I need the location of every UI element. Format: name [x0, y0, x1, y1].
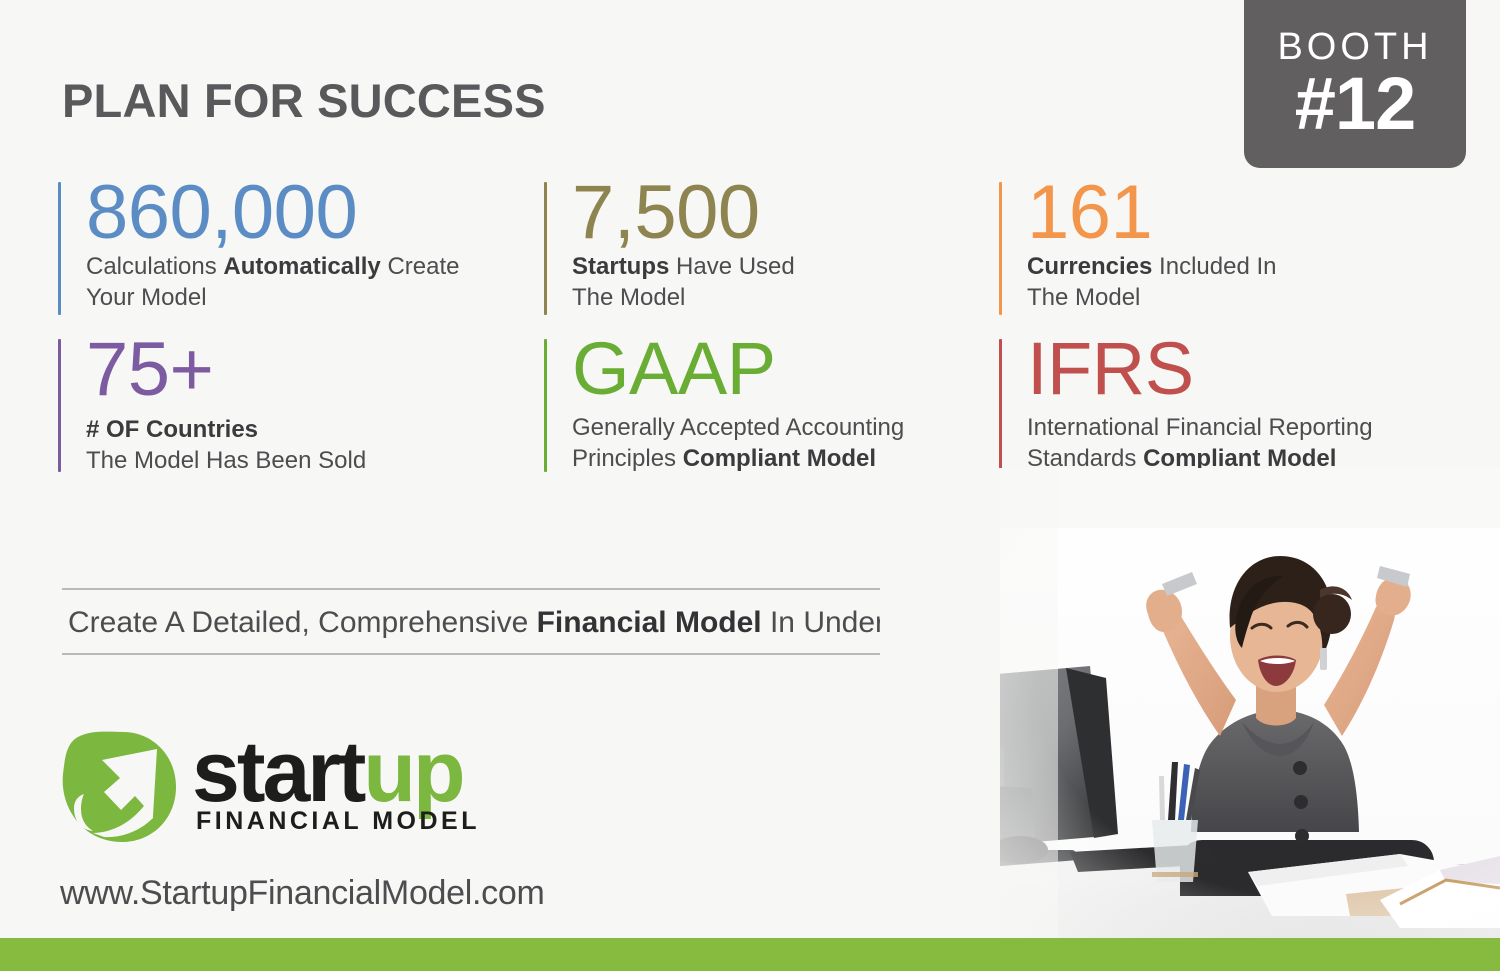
stat-value: 860,000	[86, 178, 544, 248]
stats-row-top: 860,000 Calculations Automatically Creat…	[58, 178, 1458, 323]
stat-col-3: 161 Currencies Included In The Model	[999, 178, 1454, 323]
website-url[interactable]: www.StartupFinancialModel.com	[60, 874, 545, 913]
desc-bold: # OF Countries	[86, 416, 258, 443]
hero-photo	[880, 468, 1500, 938]
leaf-arrow-icon	[60, 730, 178, 848]
booth-badge: BOOTH #12	[1244, 0, 1466, 168]
stat-value: 7,500	[572, 178, 999, 248]
stat-value: 161	[1027, 178, 1454, 248]
stats-row-bottom: 75+ # OF Countries The Model Has Been So…	[58, 335, 1458, 480]
stat-value: 75+	[86, 335, 544, 405]
booth-label: BOOTH	[1277, 28, 1432, 66]
desc-bold: Startups	[572, 253, 669, 280]
slide-canvas: BOOTH #12 PLAN FOR SUCCESS 860,000 Calcu…	[0, 0, 1500, 971]
tagline-bold: Financial Model	[537, 606, 762, 639]
stat-description: Generally Accepted Accounting Principles…	[572, 413, 999, 474]
stat-col-5: GAAP Generally Accepted Accounting Princ…	[544, 335, 999, 480]
logo-wordmark: startup FINANCIAL MODEL	[192, 730, 480, 836]
desc-bold: Automatically	[223, 253, 380, 280]
brand-logo-block[interactable]: startup FINANCIAL MODEL www.StartupFinan…	[60, 730, 545, 913]
accent-bar	[544, 182, 547, 315]
stat-description: Startups Have Used The Model	[572, 252, 999, 313]
desc-bold: Currencies	[1027, 253, 1152, 280]
stat-card-gaap: GAAP Generally Accepted Accounting Princ…	[544, 335, 999, 480]
logo-row: startup FINANCIAL MODEL	[60, 730, 545, 848]
stat-value: GAAP	[572, 335, 999, 403]
booth-number: #12	[1295, 68, 1415, 141]
logo-word: startup	[192, 734, 480, 811]
stat-card-currencies: 161 Currencies Included In The Model	[999, 178, 1454, 323]
stat-card-calculations: 860,000 Calculations Automatically Creat…	[58, 178, 544, 323]
stat-col-4: 75+ # OF Countries The Model Has Been So…	[58, 335, 544, 480]
stat-card-startups: 7,500 Startups Have Used The Model	[544, 178, 999, 323]
stat-col-1: 860,000 Calculations Automatically Creat…	[58, 178, 544, 323]
stat-description: Currencies Included In The Model	[1027, 252, 1454, 313]
stat-description: International Financial Reporting Standa…	[1027, 413, 1454, 474]
accent-bar	[58, 339, 61, 472]
desc-bold: Compliant Model	[683, 445, 876, 472]
desc-pre: Calculations	[86, 253, 223, 280]
stats-grid: 860,000 Calculations Automatically Creat…	[58, 178, 1458, 480]
accent-bar	[999, 182, 1002, 315]
stat-description: # OF Countries The Model Has Been Sold	[86, 415, 544, 476]
accent-bar	[999, 339, 1002, 472]
stat-value: IFRS	[1027, 335, 1454, 403]
stat-col-6: IFRS International Financial Reporting S…	[999, 335, 1454, 480]
accent-bar	[58, 182, 61, 315]
footer-bar	[0, 938, 1500, 971]
tagline-pre: Create A Detailed, Comprehensive	[68, 606, 537, 639]
page-title: PLAN FOR SUCCESS	[62, 77, 546, 124]
stat-card-ifrs: IFRS International Financial Reporting S…	[999, 335, 1454, 480]
logo-word-up: up	[363, 724, 462, 820]
logo-word-start: start	[192, 724, 363, 820]
accent-bar	[544, 339, 547, 472]
stat-description: Calculations Automatically Create Your M…	[86, 252, 544, 313]
stat-col-2: 7,500 Startups Have Used The Model	[544, 178, 999, 323]
desc-post: The Model Has Been Sold	[86, 447, 366, 474]
stat-card-countries: 75+ # OF Countries The Model Has Been So…	[58, 335, 544, 480]
logo-subtitle: FINANCIAL MODEL	[192, 807, 480, 836]
